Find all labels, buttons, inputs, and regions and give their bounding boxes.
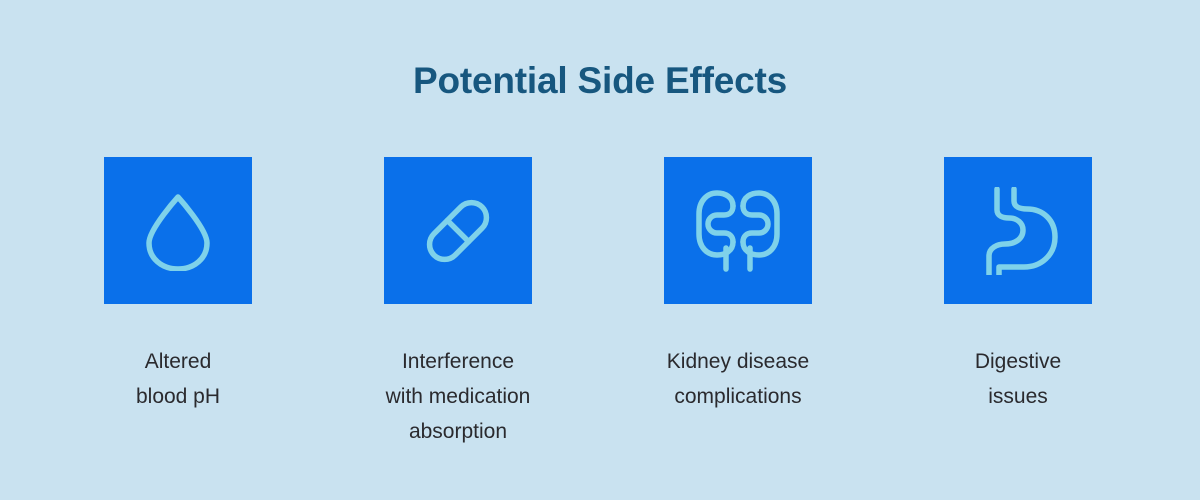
page-title: Potential Side Effects (0, 60, 1200, 102)
icon-tile-digestive-issues (944, 157, 1092, 304)
side-effect-label: Kidney disease complications (643, 344, 833, 414)
pill-capsule-icon (416, 189, 500, 273)
icon-tile-altered-blood-ph (104, 157, 252, 304)
side-effect-card: Altered blood pH (104, 157, 252, 414)
stomach-icon (975, 187, 1061, 275)
side-effect-card: Interference with medication absorption (384, 157, 532, 449)
side-effect-label: Digestive issues (923, 344, 1113, 414)
icon-tile-medication-interference (384, 157, 532, 304)
side-effect-card: Kidney disease complications (664, 157, 812, 414)
icon-tile-kidney-disease (664, 157, 812, 304)
side-effect-card: Digestive issues (944, 157, 1092, 414)
side-effects-infographic: Potential Side Effects Altered blood pH (0, 0, 1200, 500)
water-droplet-icon (141, 191, 215, 271)
side-effect-label: Interference with medication absorption (363, 344, 553, 449)
side-effect-card-list: Altered blood pH Interference with medic… (104, 157, 1104, 449)
side-effect-label: Altered blood pH (83, 344, 273, 414)
kidneys-icon (695, 190, 781, 272)
